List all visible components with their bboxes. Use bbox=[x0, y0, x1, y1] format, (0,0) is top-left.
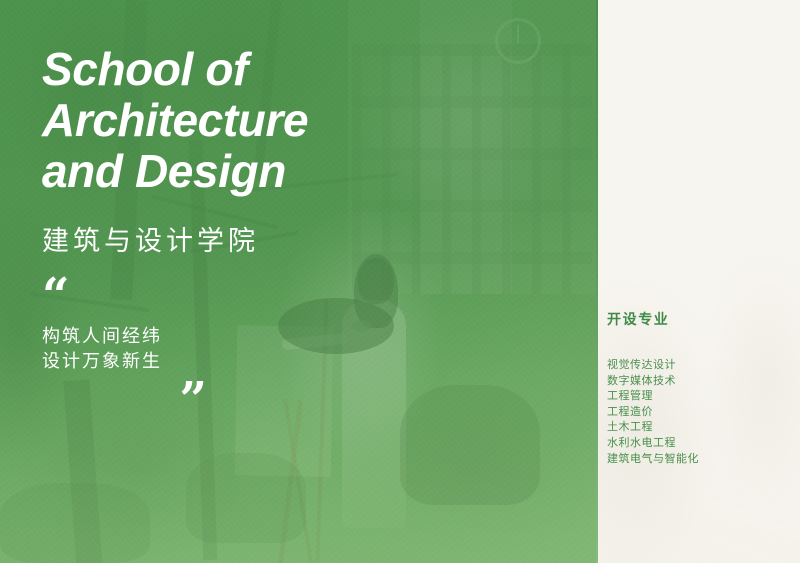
programs-section: 开设专业 视觉传达设计 数字媒体技术 工程管理 工程造价 土木工程 水利水电工程… bbox=[607, 309, 699, 467]
motto-quote-block: “ 构筑人间经纬 设计万象新生 ” bbox=[42, 282, 242, 414]
programs-side-panel: 开设专业 视觉传达设计 数字媒体技术 工程管理 工程造价 土木工程 水利水电工程… bbox=[596, 0, 800, 563]
program-item[interactable]: 建筑电气与智能化 bbox=[607, 452, 699, 468]
subtitle-chinese: 建筑与设计学院 bbox=[42, 219, 562, 258]
program-item[interactable]: 视觉传达设计 bbox=[607, 358, 699, 374]
program-item[interactable]: 工程管理 bbox=[607, 389, 699, 405]
title-line-2: Architecture bbox=[42, 95, 562, 146]
title-line-3: and Design bbox=[42, 146, 562, 197]
program-item[interactable]: 工程造价 bbox=[607, 405, 699, 421]
program-item[interactable]: 水利水电工程 bbox=[607, 436, 699, 452]
programs-heading: 开设专业 bbox=[607, 309, 699, 329]
motto-line-2: 设计万象新生 bbox=[42, 349, 242, 374]
panel-green-edge bbox=[596, 0, 598, 563]
motto-line-1: 构筑人间经纬 bbox=[42, 324, 242, 349]
title-line-1: School of bbox=[42, 44, 562, 95]
program-item[interactable]: 数字媒体技术 bbox=[607, 374, 699, 390]
programs-list: 视觉传达设计 数字媒体技术 工程管理 工程造价 土木工程 水利水电工程 建筑电气… bbox=[607, 358, 699, 467]
quote-open-icon: “ bbox=[42, 282, 242, 310]
panel-paper-texture bbox=[596, 0, 800, 563]
hero-text-block: School of Architecture and Design 建筑与设计学… bbox=[42, 44, 562, 414]
quote-close-icon: ” bbox=[42, 386, 242, 414]
poster-page: School of Architecture and Design 建筑与设计学… bbox=[0, 0, 800, 563]
program-item[interactable]: 土木工程 bbox=[607, 420, 699, 436]
